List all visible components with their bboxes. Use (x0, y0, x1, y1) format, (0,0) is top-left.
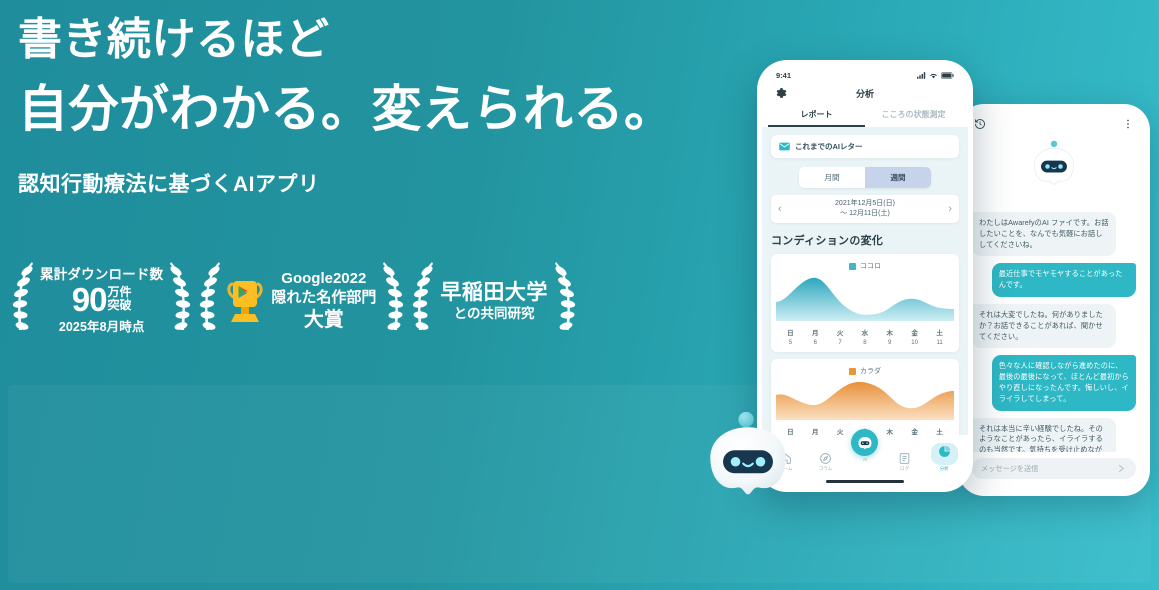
chat-message: それは大変でしたね。何がありましたか？お話できることがあれば、聞かせてください。 (972, 304, 1116, 348)
axis-tick: 木9 (886, 329, 893, 348)
laurel-right-icon (167, 258, 193, 344)
segment-weekly[interactable]: 週間 (865, 167, 931, 188)
page-title: 分析 (762, 87, 968, 100)
headline-line-2: 自分がわかる。変えられる。 (18, 84, 658, 134)
badge-downloads-number: 90 (72, 284, 107, 315)
phone-chat: わたしはAwarefyのAI ファイです。お話したいことを、なんでも気軽にお話し… (958, 104, 1150, 496)
axis-tick: 土 (936, 428, 943, 435)
ai-mascot-icon (856, 434, 874, 452)
history-icon[interactable] (974, 118, 986, 130)
chat-message: 最近仕事でモヤモヤすることがあったんです。 (992, 263, 1136, 297)
badge-downloads: 累計ダウンロード数 90 万件 突破 2025年8月時点 (10, 258, 193, 344)
status-time: 9:41 (776, 71, 791, 80)
wifi-icon (929, 72, 938, 79)
hero-copy: 書き続けるほど 自分がわかる。変えられる。 認知行動療法に基づくAIアプリ (18, 18, 658, 198)
more-vertical-icon[interactable] (1122, 118, 1134, 130)
axis-tick: 月 (812, 428, 819, 435)
mail-icon (779, 142, 790, 151)
badge-google-line-1: Google2022 (281, 270, 366, 289)
active-pill (931, 443, 958, 465)
chat-input[interactable]: メッセージを送信 (972, 458, 1136, 479)
axis-tick: 土11 (936, 329, 943, 348)
signal-icon (917, 72, 926, 79)
laurel-left-icon (10, 258, 36, 344)
area-chart-kokoro (776, 273, 954, 321)
ai-fab[interactable] (851, 429, 878, 456)
axis-tick: 金 (911, 428, 918, 435)
compass-icon (819, 452, 832, 465)
badge-waseda-line-2: との共同研究 (454, 305, 535, 323)
badge-downloads-date: 2025年8月時点 (59, 316, 145, 335)
axis-tick: 木 (887, 428, 894, 435)
phone-notch (829, 65, 901, 80)
hero-banner: 書き続けるほど 自分がわかる。変えられる。 認知行動療法に基づくAIアプリ 累計… (0, 0, 1159, 590)
tabbar-label: 分析 (940, 466, 949, 472)
ai-mascot-icon (1027, 139, 1081, 198)
laurel-left-icon (197, 258, 223, 344)
area-chart-karada (776, 378, 954, 420)
tab-mood-measure[interactable]: こころの状態測定 (865, 103, 962, 127)
badge-google-line-3: 大賞 (304, 308, 344, 332)
award-badges: 累計ダウンロード数 90 万件 突破 2025年8月時点 (10, 258, 578, 344)
legend-swatch (849, 263, 856, 270)
subheadline: 認知行動療法に基づくAIアプリ (18, 168, 658, 198)
chat-thread[interactable]: わたしはAwarefyのAI ファイです。お話したいことを、なんでも気軽にお話し… (963, 136, 1145, 452)
date-range-selector[interactable]: ‹ 2021年12月5日(日) 〜 12月11日(土) › (771, 195, 959, 223)
tabbar-item-log[interactable]: ログ (888, 452, 922, 472)
date-range-line-2: 〜 12月11日(土) (782, 209, 949, 219)
badge-downloads-unit-bottom: 突破 (108, 299, 132, 312)
chat-message: わたしはAwarefyのAI ファイです。お話したいことを、なんでも気軽にお話し… (972, 212, 1116, 256)
section-title: コンディションの変化 (771, 232, 959, 248)
date-range-line-1: 2021年12月5日(日) (782, 199, 949, 209)
axis-tick: 日5 (787, 329, 794, 348)
badge-waseda: 早稲田大学 との共同研究 (410, 258, 578, 344)
badge-google-award: Google2022 隠れた名作部門 大賞 (197, 258, 406, 344)
chart-axis-kokoro: 日5 月6 火7 水8 木9 金10 土11 (776, 326, 954, 348)
ai-letter-label: これまでのAIレター (795, 141, 863, 152)
tabbar-item-ai[interactable]: AI (848, 429, 882, 462)
chart-pie-icon (938, 445, 951, 458)
tabbar-item-column[interactable]: コラム (808, 452, 842, 472)
ai-mascot-phi (700, 408, 796, 504)
laurel-right-icon (380, 258, 406, 344)
tabbar-label: コラム (819, 466, 833, 472)
chart-karada: カラダ 日 月 火 水 木 金 土 (771, 359, 959, 435)
tab-bar[interactable]: レポート こころの状態測定 (762, 103, 968, 127)
tabbar-item-analysis[interactable]: 分析 (927, 443, 961, 472)
chart-kokoro: ココロ 日5 月6 火7 水8 木9 金10 (771, 254, 959, 352)
chevron-right-icon[interactable]: › (948, 203, 952, 215)
tabbar-label: AI (863, 457, 867, 462)
battery-icon (941, 72, 954, 79)
axis-tick: 月6 (812, 329, 819, 348)
chat-message: それは本当に辛い経験でしたね。そのようなことがあったら、イライラするのも当然です… (972, 418, 1116, 452)
axis-tick: 火7 (837, 329, 844, 348)
axis-tick: 水8 (862, 329, 869, 348)
trophy-icon (225, 276, 265, 326)
badge-waseda-line-1: 早稲田大学 (440, 280, 548, 305)
ai-letter-card[interactable]: これまでのAIレター (771, 135, 959, 158)
tab-report[interactable]: レポート (768, 103, 865, 127)
send-arrow-icon[interactable] (1116, 463, 1127, 474)
log-icon (898, 452, 911, 465)
period-segmented-control[interactable]: 月間 週間 (799, 167, 931, 188)
legend-swatch (849, 368, 856, 375)
laurel-right-icon (552, 258, 578, 344)
axis-tick: 火 (837, 428, 844, 435)
badge-google-line-2: 隠れた名作部門 (271, 289, 376, 308)
legend-label: ココロ (860, 261, 881, 271)
axis-tick: 金10 (911, 329, 918, 348)
legend-label: カラダ (860, 366, 881, 376)
tabbar-label: ログ (900, 466, 909, 472)
headline-line-1: 書き続けるほど (18, 18, 658, 62)
nav-bar: 分析 (762, 82, 968, 103)
segment-monthly[interactable]: 月間 (799, 167, 865, 188)
laurel-left-icon (410, 258, 436, 344)
chat-input-placeholder: メッセージを送信 (981, 464, 1038, 474)
chat-message: 色々な人に確認しながら進めたのに、最後の最後になって、ほとんど最初からやり直しに… (992, 355, 1136, 410)
